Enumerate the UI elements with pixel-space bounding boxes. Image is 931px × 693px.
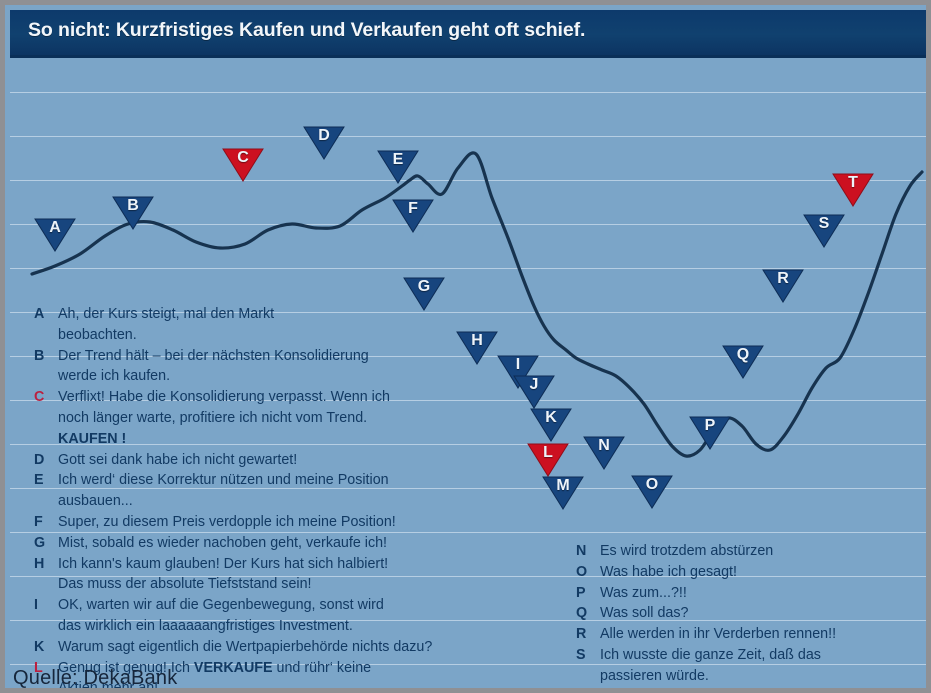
- bottom-bar: [10, 688, 931, 693]
- legend-item-text: Ich kann's kaum glauben! Der Kurs hat si…: [58, 554, 534, 575]
- legend-item-text: KAUFEN !: [58, 429, 534, 450]
- legend-item-k: KWarum sagt eigentlich die Wertpapierbeh…: [34, 637, 534, 658]
- chart-marker-e[interactable]: E: [377, 150, 419, 184]
- chart-marker-d[interactable]: D: [303, 126, 345, 160]
- legend-item-text: das wirklich ein laaaaaangfristiges Inve…: [58, 616, 534, 637]
- legend-item-q: QWas soll das?: [576, 603, 931, 624]
- legend-left-column: AAh, der Kurs steigt, mal den Marktbeoba…: [34, 304, 534, 693]
- red-pennant-icon: [222, 148, 264, 182]
- legend-item-key: G: [34, 533, 53, 554]
- legend-item-key: K: [34, 637, 53, 658]
- legend-item-text: Das muss der absolute Tiefststand sein!: [58, 574, 534, 595]
- legend-item-s: SIch wusste die ganze Zeit, daß daspassi…: [576, 645, 931, 687]
- legend-item-key: D: [34, 450, 53, 471]
- legend-item-text: noch länger warte, profitiere ich nicht …: [58, 408, 534, 429]
- blue-pennant-icon: [542, 476, 584, 510]
- legend-item-b: BDer Trend hält – bei der nächsten Konso…: [34, 346, 534, 388]
- source-caption: Quelle: DekaBank: [13, 667, 177, 690]
- chart-frame: So nicht: Kurzfristiges Kaufen und Verka…: [0, 0, 931, 693]
- legend-item-key: Q: [576, 603, 595, 624]
- legend-item-key: E: [34, 470, 53, 491]
- chart-marker-s[interactable]: S: [803, 214, 845, 248]
- legend-item-key: O: [576, 562, 595, 583]
- legend-item-d: DGott sei dank habe ich nicht gewartet!: [34, 450, 534, 471]
- legend-item-r: RAlle werden in ihr Verderben rennen!!: [576, 624, 931, 645]
- chart-marker-k[interactable]: K: [530, 408, 572, 442]
- legend-item-text: Ich wusste die ganze Zeit, daß das: [600, 645, 931, 666]
- chart-marker-a[interactable]: A: [34, 218, 76, 252]
- legend-item-g: GMist, sobald es wieder nachoben geht, v…: [34, 533, 534, 554]
- chart-marker-o[interactable]: O: [631, 475, 673, 509]
- blue-pennant-icon: [392, 199, 434, 233]
- legend-item-text: Was soll das?: [600, 603, 931, 624]
- legend-item-text: Gott sei dank habe ich nicht gewartet!: [58, 450, 534, 471]
- legend-item-i: IOK, warten wir auf die Gegenbewegung, s…: [34, 595, 534, 637]
- blue-pennant-icon: [689, 416, 731, 450]
- legend-item-key: I: [34, 595, 53, 616]
- blue-pennant-icon: [530, 408, 572, 442]
- legend-item-a: AAh, der Kurs steigt, mal den Marktbeoba…: [34, 304, 534, 346]
- blue-pennant-icon: [631, 475, 673, 509]
- chart-marker-m[interactable]: M: [542, 476, 584, 510]
- legend-item-text: ausbauen...: [58, 491, 534, 512]
- legend-item-text: Mist, sobald es wieder nachoben geht, ve…: [58, 533, 534, 554]
- page-title: So nicht: Kurzfristiges Kaufen und Verka…: [28, 19, 585, 42]
- legend-item-key: B: [34, 346, 53, 367]
- chart-marker-c[interactable]: C: [222, 148, 264, 182]
- legend-item-text: passieren würde.: [600, 666, 931, 687]
- blue-pennant-icon: [377, 150, 419, 184]
- blue-pennant-icon: [112, 196, 154, 230]
- legend-item-text: Alle werden in ihr Verderben rennen!!: [600, 624, 931, 645]
- legend-item-text: Ah, der Kurs steigt, mal den Markt: [58, 304, 534, 325]
- legend-item-text: beobachten.: [58, 325, 534, 346]
- legend-item-c: CVerflixt! Habe die Konsolidierung verpa…: [34, 387, 534, 449]
- blue-pennant-icon: [722, 345, 764, 379]
- legend-item-text: Verflixt! Habe die Konsolidierung verpas…: [58, 387, 534, 408]
- chart-marker-f[interactable]: F: [392, 199, 434, 233]
- legend-item-text: Der Trend hält – bei der nächsten Konsol…: [58, 346, 534, 367]
- legend-item-text: Warum sagt eigentlich die Wertpapierbehö…: [58, 637, 534, 658]
- legend-item-o: OWas habe ich gesagt!: [576, 562, 931, 583]
- legend-item-text: Es wird trotzdem abstürzen: [600, 541, 931, 562]
- legend-item-f: FSuper, zu diesem Preis verdopple ich me…: [34, 512, 534, 533]
- plot-area: ABCDEFGHIJKLMNOPQRST AAh, der Kurs steig…: [10, 58, 931, 693]
- legend-item-key: F: [34, 512, 53, 533]
- legend-item-text: werde ich kaufen.: [58, 366, 534, 387]
- legend-item-text: Super, zu diesem Preis verdopple ich mei…: [58, 512, 534, 533]
- chart-marker-p[interactable]: P: [689, 416, 731, 450]
- chart-marker-r[interactable]: R: [762, 269, 804, 303]
- chart-marker-n[interactable]: N: [583, 436, 625, 470]
- legend-item-key: N: [576, 541, 595, 562]
- chart-marker-q[interactable]: Q: [722, 345, 764, 379]
- legend-item-key: P: [576, 583, 595, 604]
- legend-item-key: A: [34, 304, 53, 325]
- legend-item-h: HIch kann's kaum glauben! Der Kurs hat s…: [34, 554, 534, 596]
- legend-item-key: C: [34, 387, 53, 408]
- blue-pennant-icon: [762, 269, 804, 303]
- legend-item-key: H: [34, 554, 53, 575]
- legend-item-p: PWas zum...?!!: [576, 583, 931, 604]
- legend-item-text: Was habe ich gesagt!: [600, 562, 931, 583]
- legend-right-column: NEs wird trotzdem abstürzenOWas habe ich…: [576, 541, 931, 693]
- chart-marker-t[interactable]: T: [832, 173, 874, 207]
- legend-item-key: R: [576, 624, 595, 645]
- red-pennant-icon: [832, 173, 874, 207]
- legend-item-key: S: [576, 645, 595, 666]
- blue-pennant-icon: [803, 214, 845, 248]
- chart-marker-b[interactable]: B: [112, 196, 154, 230]
- title-bar: So nicht: Kurzfristiges Kaufen und Verka…: [10, 10, 931, 55]
- blue-pennant-icon: [303, 126, 345, 160]
- blue-pennant-icon: [583, 436, 625, 470]
- legend-item-n: NEs wird trotzdem abstürzen: [576, 541, 931, 562]
- legend-item-text: Ich werd‘ diese Korrektur nützen und mei…: [58, 470, 534, 491]
- blue-pennant-icon: [34, 218, 76, 252]
- legend-item-text: Was zum...?!!: [600, 583, 931, 604]
- legend-item-e: EIch werd‘ diese Korrektur nützen und me…: [34, 470, 534, 512]
- legend-item-text: OK, warten wir auf die Gegenbewegung, so…: [58, 595, 534, 616]
